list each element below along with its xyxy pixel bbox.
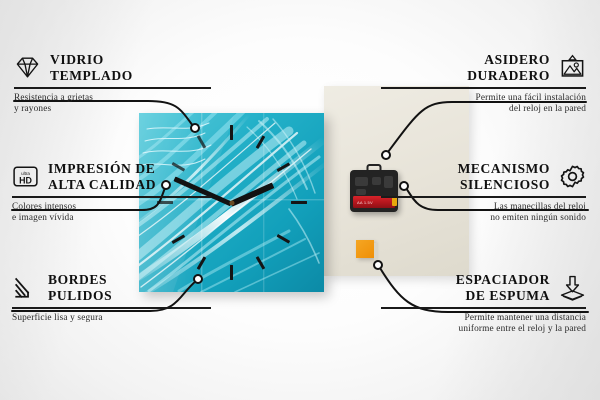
infographic-canvas: AA 1.5V bbox=[0, 0, 600, 400]
hour-marker bbox=[230, 125, 233, 140]
feature-header: ultra HD IMPRESIÓN DE ALTA CALIDAD bbox=[12, 161, 217, 192]
feature-divider bbox=[381, 87, 586, 89]
diamond-icon bbox=[14, 54, 41, 81]
feature-divider bbox=[14, 87, 211, 89]
feature-header: BORDES PULIDOS bbox=[12, 272, 217, 303]
feature-header: VIDRIO TEMPLADO bbox=[14, 52, 219, 83]
foam-spacer-arrow-icon bbox=[559, 274, 586, 301]
feature-title: IMPRESIÓN DE ALTA CALIDAD bbox=[48, 161, 156, 192]
feature-description: Permite una fácil instalación del reloj … bbox=[381, 93, 586, 116]
feature-description: Permite mantener una distancia uniforme … bbox=[381, 313, 586, 336]
battery-label: AA 1.5V bbox=[357, 200, 373, 205]
feature-description: Colores intensos e imagen vívida bbox=[12, 202, 217, 225]
feature-polished-edges: BORDES PULIDOS Superficie lisa y segura bbox=[12, 272, 217, 324]
mechanism-shaft bbox=[367, 164, 382, 175]
feature-title: BORDES PULIDOS bbox=[48, 272, 112, 303]
gear-icon bbox=[559, 163, 586, 190]
feature-silent-mechanism: MECANISMO SILENCIOSO Las manecillas del … bbox=[381, 161, 586, 224]
feature-description: Las manecillas del reloj no emiten ningú… bbox=[381, 202, 586, 225]
polished-edges-icon bbox=[12, 274, 39, 301]
feature-title: VIDRIO TEMPLADO bbox=[50, 52, 133, 83]
mechanism-detail bbox=[356, 189, 366, 195]
feature-header: ESPACIADOR DE ESPUMA bbox=[381, 272, 586, 303]
feature-divider bbox=[12, 307, 211, 309]
feature-divider bbox=[381, 196, 586, 198]
hour-marker bbox=[291, 201, 307, 204]
feature-description: Superficie lisa y segura bbox=[12, 313, 217, 324]
feature-description: Resistencia a grietas y rayones bbox=[14, 93, 219, 116]
feature-divider bbox=[381, 307, 586, 309]
clock-center-pin bbox=[229, 200, 234, 205]
feature-hd-printing: ultra HD IMPRESIÓN DE ALTA CALIDAD Color… bbox=[12, 161, 217, 224]
foam-spacer-piece bbox=[356, 240, 374, 258]
picture-frame-hanger-icon bbox=[559, 54, 586, 81]
feature-title: ASIDERO DURADERO bbox=[467, 52, 550, 83]
mechanism-detail bbox=[355, 177, 368, 186]
feature-title: ESPACIADOR DE ESPUMA bbox=[456, 272, 550, 303]
feature-tempered-glass: VIDRIO TEMPLADO Resistencia a grietas y … bbox=[14, 52, 219, 115]
feature-divider bbox=[12, 196, 211, 198]
feature-header: ASIDERO DURADERO bbox=[381, 52, 586, 83]
svg-text:HD: HD bbox=[19, 175, 32, 185]
hour-marker bbox=[230, 265, 233, 280]
feature-title: MECANISMO SILENCIOSO bbox=[458, 161, 550, 192]
mechanism-detail bbox=[372, 177, 381, 185]
feature-foam-spacer: ESPACIADOR DE ESPUMA Permite mantener un… bbox=[381, 272, 586, 335]
ultra-hd-icon: ultra HD bbox=[12, 163, 39, 190]
feature-durable-hanger: ASIDERO DURADERO Permite una fácil insta… bbox=[381, 52, 586, 115]
feature-header: MECANISMO SILENCIOSO bbox=[381, 161, 586, 192]
